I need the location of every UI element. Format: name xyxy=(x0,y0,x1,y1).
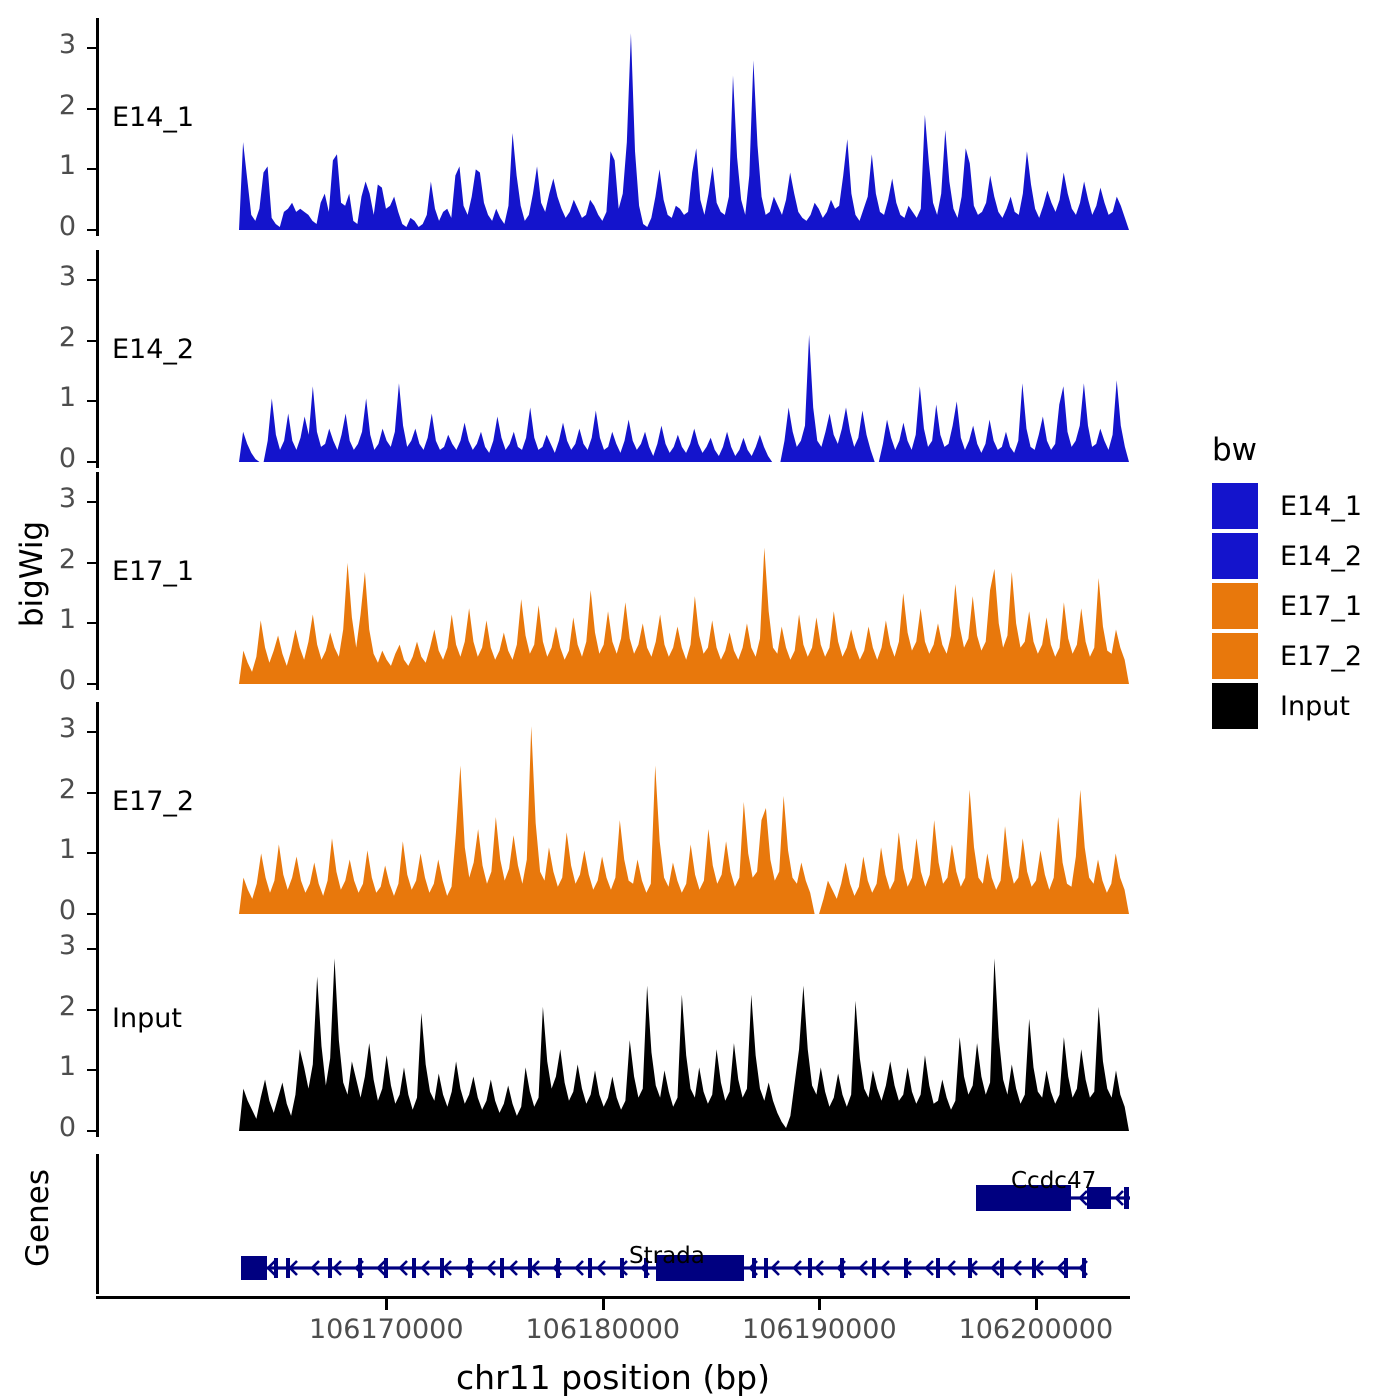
x-axis-title: chr11 position (bp) xyxy=(96,1358,1130,1397)
y-tick-1 xyxy=(87,1069,96,1071)
y-tick-3 xyxy=(87,731,96,733)
legend-item-e17_1[interactable]: E17_1 xyxy=(1212,582,1362,630)
y-tick-2 xyxy=(87,562,96,564)
legend-item-e14_1[interactable]: E14_1 xyxy=(1212,482,1362,530)
x-axis-line xyxy=(96,1296,1130,1299)
legend-swatch-input xyxy=(1212,683,1258,729)
x-tick-106170000 xyxy=(385,1299,388,1310)
legend-swatch-e14_1 xyxy=(1212,483,1258,529)
x-axis: 106170000106180000106190000106200000 chr… xyxy=(96,1296,1130,1396)
y-tick-label-0: 0 xyxy=(18,211,76,242)
y-tick-label-3: 3 xyxy=(18,261,76,292)
legend-item-input[interactable]: Input xyxy=(1212,682,1362,730)
y-tick-label-1: 1 xyxy=(18,604,76,635)
y-tick-label-0: 0 xyxy=(18,665,76,696)
genes-panel: Ccdc47 Strada xyxy=(96,1148,1130,1298)
y-tick-3 xyxy=(87,47,96,49)
x-tick-label-106180000: 106180000 xyxy=(493,1314,713,1345)
y-tick-0 xyxy=(87,229,96,231)
y-tick-label-2: 2 xyxy=(18,544,76,575)
track-panel-e14_2: 0123E14_2 xyxy=(96,256,1130,462)
legend-items: E14_1E14_2E17_1E17_2Input xyxy=(1212,482,1362,730)
y-tick-3 xyxy=(87,279,96,281)
y-tick-label-0: 0 xyxy=(18,895,76,926)
y-tick-label-0: 0 xyxy=(18,1112,76,1143)
y-tick-label-3: 3 xyxy=(18,483,76,514)
y-tick-2 xyxy=(87,340,96,342)
y-tick-3 xyxy=(87,501,96,503)
y-tick-0 xyxy=(87,913,96,915)
legend-item-e17_2[interactable]: E17_2 xyxy=(1212,632,1362,680)
x-tick-label-106190000: 106190000 xyxy=(709,1314,929,1345)
wiggle-e14_2 xyxy=(96,256,1130,462)
y-tick-2 xyxy=(87,108,96,110)
legend-title: bw xyxy=(1212,432,1362,468)
gene-label-strada: Strada xyxy=(629,1243,705,1269)
legend-swatch-e17_1 xyxy=(1212,583,1258,629)
y-tick-label-0: 0 xyxy=(18,443,76,474)
legend-label-e17_2: E17_2 xyxy=(1280,641,1362,672)
wiggle-e17_1 xyxy=(96,478,1130,684)
y-tick-label-2: 2 xyxy=(18,991,76,1022)
y-tick-0 xyxy=(87,683,96,685)
x-tick-label-106170000: 106170000 xyxy=(276,1314,496,1345)
y-tick-1 xyxy=(87,400,96,402)
y-tick-label-3: 3 xyxy=(18,930,76,961)
genes-track-svg xyxy=(96,1148,1130,1298)
track-panel-e17_2: 0123E17_2 xyxy=(96,708,1130,914)
y-tick-label-1: 1 xyxy=(18,1051,76,1082)
y-tick-label-1: 1 xyxy=(18,382,76,413)
y-tick-label-2: 2 xyxy=(18,322,76,353)
y-tick-1 xyxy=(87,622,96,624)
track-panel-input: 0123Input xyxy=(96,925,1130,1131)
y-tick-label-3: 3 xyxy=(18,29,76,60)
legend-label-e17_1: E17_1 xyxy=(1280,591,1362,622)
x-tick-label-106200000: 106200000 xyxy=(926,1314,1146,1345)
x-tick-106190000 xyxy=(818,1299,821,1310)
legend-item-e14_2[interactable]: E14_2 xyxy=(1212,532,1362,580)
y-tick-3 xyxy=(87,948,96,950)
x-tick-106180000 xyxy=(602,1299,605,1310)
legend-swatch-e14_2 xyxy=(1212,533,1258,579)
y-tick-1 xyxy=(87,852,96,854)
y-tick-2 xyxy=(87,1009,96,1011)
legend: bw E14_1E14_2E17_1E17_2Input xyxy=(1212,432,1362,732)
legend-label-e14_2: E14_2 xyxy=(1280,541,1362,572)
y-tick-0 xyxy=(87,1130,96,1132)
y-axis-title-genes: Genes xyxy=(20,1158,56,1278)
y-tick-1 xyxy=(87,168,96,170)
wiggle-e17_2 xyxy=(96,708,1130,914)
y-tick-label-2: 2 xyxy=(18,90,76,121)
y-tick-label-1: 1 xyxy=(18,834,76,865)
wiggle-e14_1 xyxy=(96,24,1130,230)
y-tick-2 xyxy=(87,792,96,794)
wiggle-input xyxy=(96,925,1130,1131)
legend-label-e14_1: E14_1 xyxy=(1280,491,1362,522)
x-tick-106200000 xyxy=(1035,1299,1038,1310)
legend-label-input: Input xyxy=(1280,691,1350,722)
y-tick-0 xyxy=(87,461,96,463)
legend-swatch-e17_2 xyxy=(1212,633,1258,679)
y-tick-label-3: 3 xyxy=(18,713,76,744)
track-panel-e17_1: 0123E17_1 xyxy=(96,478,1130,684)
gene-label-ccdc47: Ccdc47 xyxy=(1011,1168,1096,1194)
y-tick-label-2: 2 xyxy=(18,774,76,805)
y-tick-label-1: 1 xyxy=(18,150,76,181)
track-panel-e14_1: 0123E14_1 xyxy=(96,24,1130,230)
